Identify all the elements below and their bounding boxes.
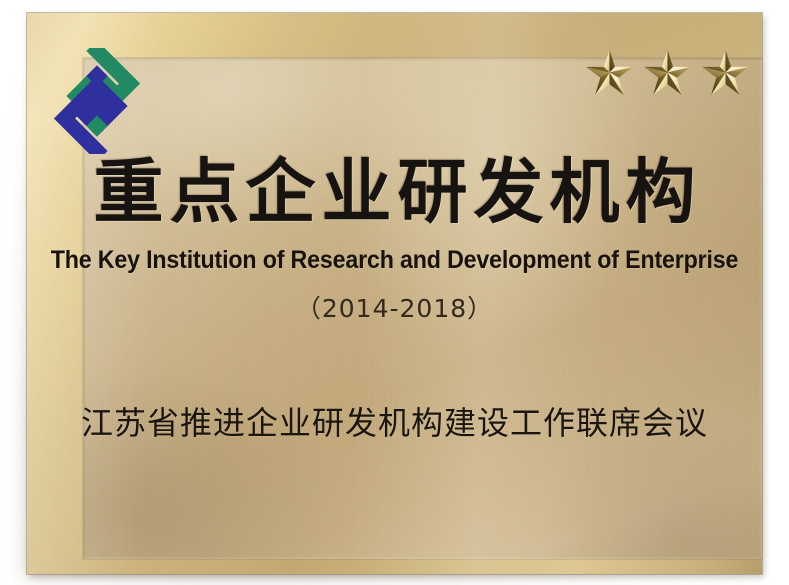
- star-rating-group: [584, 47, 751, 98]
- plaque-content: 重点企业研发机构 The Key Institution of Research…: [0, 0, 789, 585]
- star-icon: [642, 47, 693, 98]
- award-period: （2014-2018）: [0, 296, 789, 321]
- issuing-authority: 江苏省推进企业研发机构建设工作联席会议: [0, 407, 789, 439]
- award-title-english: The Key Institution of Research and Deve…: [28, 248, 762, 273]
- jiangsu-enterprise-rd-emblem-icon: [44, 48, 150, 154]
- star-icon: [700, 47, 751, 98]
- award-title-chinese: 重点企业研发机构: [0, 157, 789, 227]
- award-plaque-screenshot: 重点企业研发机构 The Key Institution of Research…: [0, 0, 789, 585]
- star-icon: [584, 47, 635, 98]
